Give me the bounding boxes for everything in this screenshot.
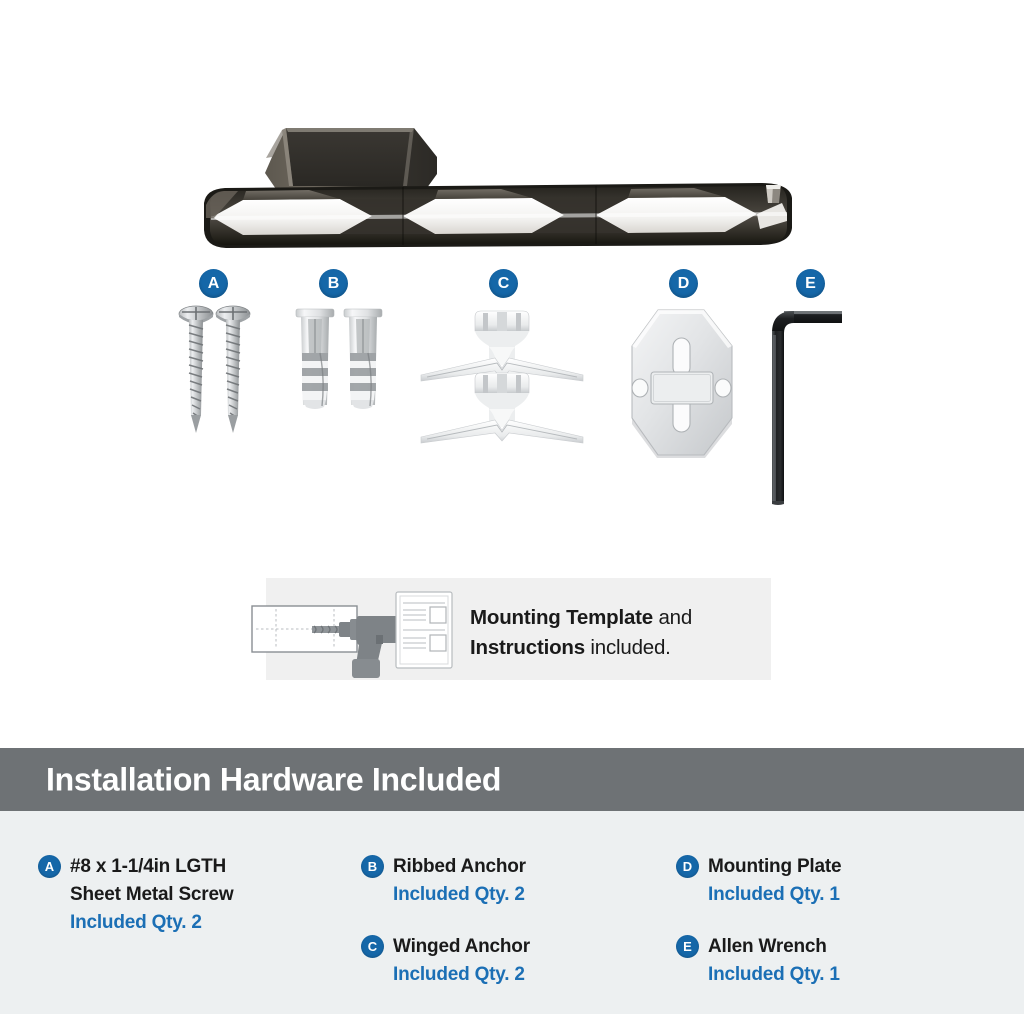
ribbed-anchor-left [296,309,334,409]
badge-letter-d: D [669,269,698,298]
winged-anchor-upper [421,311,583,381]
legend-name-a-line2: Sheet Metal Screw [70,881,233,909]
mounting-template-bold1: Mounting Template [470,606,653,629]
badge-letter-a: A [199,269,228,298]
legend-item-a: A #8 x 1-1/4in LGTH Sheet Metal Screw In… [38,853,233,937]
badge-letter-e: E [796,269,825,298]
legend-item-d: D Mounting Plate Included Qty. 1 [676,853,841,909]
ribbed-anchor-icon [290,305,390,420]
legend-panel: A #8 x 1-1/4in LGTH Sheet Metal Screw In… [0,811,1024,1014]
part-illustration-screw [168,303,268,448]
mounting-plate-icon [622,306,742,461]
faceted-towel-bar-svg [0,40,1024,250]
ribbed-anchor-right [344,309,382,409]
legend-item-c: C Winged Anchor Included Qty. 2 [361,933,530,989]
product-mounting-post [265,128,437,192]
badge-letter-c: C [489,269,518,298]
part-badge-b: B [319,269,348,298]
page-title: Installation Hardware Included [46,761,501,798]
mounting-template-text: Mounting Template and Instructions inclu… [470,598,800,668]
legend-badge-e: E [676,935,699,958]
legend-item-e: E Allen Wrench Included Qty. 1 [676,933,840,989]
mounting-template-artwork [250,583,465,678]
legend-badge-a: A [38,855,61,878]
part-illustration-allen-wrench [758,305,848,525]
product-hardware-infographic: A [0,0,1024,1024]
part-badge-e: E [796,269,825,298]
legend-qty-a: Included Qty. 2 [70,909,233,937]
winged-anchor-icon [411,303,593,453]
product-set-screw-post [766,185,781,203]
mounting-template-rest1: and [653,606,692,629]
legend-name-d: Mounting Plate [708,853,841,881]
legend-text-a: #8 x 1-1/4in LGTH Sheet Metal Screw Incl… [70,853,233,937]
allen-wrench-icon [758,305,848,520]
legend-name-b: Ribbed Anchor [393,853,526,881]
winged-anchor-lower [421,373,583,443]
legend-item-b: B Ribbed Anchor Included Qty. 2 [361,853,526,909]
mounting-template-line2: Instructions included. [470,633,800,663]
part-badge-c: C [489,269,518,298]
installation-hardware-header: Installation Hardware Included [0,748,1024,811]
legend-qty-c: Included Qty. 2 [393,961,530,989]
legend-badge-b: B [361,855,384,878]
legend-qty-e: Included Qty. 1 [708,961,840,989]
legend-qty-d: Included Qty. 1 [708,881,841,909]
part-illustration-ribbed-anchor [290,305,390,425]
mounting-template-bold2: Instructions [470,636,585,659]
legend-badge-d: D [676,855,699,878]
legend-name-e: Allen Wrench [708,933,840,961]
mounting-template-line1: Mounting Template and [470,603,800,633]
legend-badge-c: C [361,935,384,958]
part-badge-d: D [669,269,698,298]
legend-text-b: Ribbed Anchor Included Qty. 2 [393,853,526,909]
legend-text-d: Mounting Plate Included Qty. 1 [708,853,841,909]
part-illustration-winged-anchor [411,303,593,458]
legend-text-e: Allen Wrench Included Qty. 1 [708,933,840,989]
product-faceted-bar [204,183,792,248]
instruction-sheet-icon [396,592,452,668]
legend-qty-b: Included Qty. 2 [393,881,526,909]
drill-template-icon [252,606,405,678]
part-illustration-mounting-plate [622,306,742,466]
screw-icon [168,303,268,443]
legend-text-c: Winged Anchor Included Qty. 2 [393,933,530,989]
product-illustration [0,40,1024,250]
badge-letter-b: B [319,269,348,298]
mounting-template-rest2: included. [585,636,671,659]
part-badge-a: A [199,269,228,298]
legend-name-c: Winged Anchor [393,933,530,961]
legend-name-a-line1: #8 x 1-1/4in LGTH [70,853,233,881]
hardware-parts-row: A [0,258,1024,548]
